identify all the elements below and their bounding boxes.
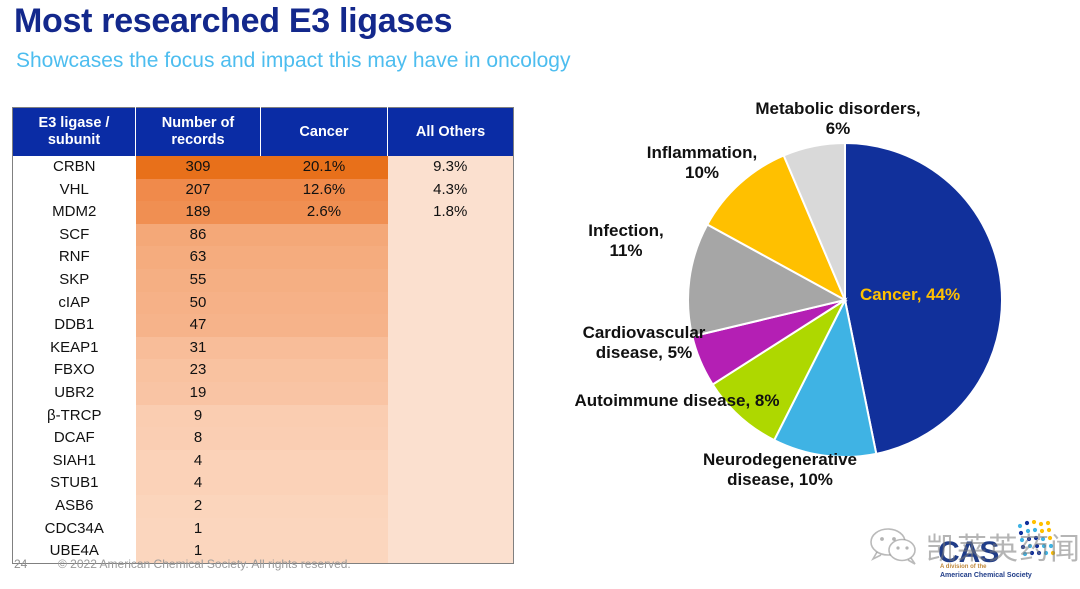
cell-record-count: 4 — [136, 450, 261, 473]
pie-label-metabolic-disorders: Metabolic disorders, 6% — [738, 99, 938, 139]
cell-all-others-percent — [388, 314, 514, 337]
table-row[interactable]: cIAP50 — [13, 292, 514, 315]
cell-all-others-percent — [388, 337, 514, 360]
cell-all-others-percent — [388, 405, 514, 428]
table-row[interactable]: ASB62 — [13, 495, 514, 518]
cell-record-count: 207 — [136, 179, 261, 202]
cell-all-others-percent — [388, 518, 514, 541]
cell-ligase-name: CDC34A — [13, 518, 136, 541]
page-subtitle: Showcases the focus and impact this may … — [16, 49, 570, 73]
table-header-row: E3 ligase / subunit Number of records Ca… — [13, 108, 514, 157]
cell-cancer-percent — [261, 359, 388, 382]
cell-ligase-name: STUB1 — [13, 472, 136, 495]
cell-ligase-name: β-TRCP — [13, 405, 136, 428]
cell-record-count: 86 — [136, 224, 261, 247]
table-row[interactable]: UBR219 — [13, 382, 514, 405]
cell-record-count: 4 — [136, 472, 261, 495]
cell-all-others-percent — [388, 495, 514, 518]
cell-ligase-name: DDB1 — [13, 314, 136, 337]
cell-all-others-percent: 9.3% — [388, 156, 514, 179]
cell-cancer-percent: 20.1% — [261, 156, 388, 179]
cell-cancer-percent — [261, 337, 388, 360]
cell-cancer-percent — [261, 269, 388, 292]
cell-ligase-name: SCF — [13, 224, 136, 247]
table-row[interactable]: MDM21892.6%1.8% — [13, 201, 514, 224]
cell-all-others-percent — [388, 292, 514, 315]
cell-record-count: 189 — [136, 201, 261, 224]
cell-record-count: 63 — [136, 246, 261, 269]
cell-cancer-percent — [261, 292, 388, 315]
wechat-chat-bubble-icon — [868, 526, 920, 566]
table-row[interactable]: CDC34A1 — [13, 518, 514, 541]
cell-cancer-percent — [261, 246, 388, 269]
cell-all-others-percent — [388, 269, 514, 292]
cell-cancer-percent: 2.6% — [261, 201, 388, 224]
cell-cancer-percent — [261, 472, 388, 495]
column-header-number-of-records[interactable]: Number of records — [136, 108, 261, 157]
cell-record-count: 19 — [136, 382, 261, 405]
cell-ligase-name: DCAF — [13, 427, 136, 450]
cell-record-count: 31 — [136, 337, 261, 360]
column-header-e3-ligase[interactable]: E3 ligase / subunit — [13, 108, 136, 157]
pie-label-infection: Infection, 11% — [566, 221, 686, 261]
cell-record-count: 9 — [136, 405, 261, 428]
cell-ligase-name: KEAP1 — [13, 337, 136, 360]
cell-ligase-name: FBXO — [13, 359, 136, 382]
cell-record-count: 23 — [136, 359, 261, 382]
table-row[interactable]: β-TRCP9 — [13, 405, 514, 428]
cell-record-count: 47 — [136, 314, 261, 337]
cell-all-others-percent — [388, 382, 514, 405]
cell-ligase-name: cIAP — [13, 292, 136, 315]
cell-cancer-percent — [261, 314, 388, 337]
cell-ligase-name: RNF — [13, 246, 136, 269]
cell-ligase-name: UBR2 — [13, 382, 136, 405]
cell-ligase-name: SKP — [13, 269, 136, 292]
cas-tagline-line2: American Chemical Society — [940, 572, 1032, 579]
pie-label-inflammation: Inflammation, 10% — [632, 143, 772, 183]
table-row[interactable]: KEAP131 — [13, 337, 514, 360]
cell-all-others-percent — [388, 540, 514, 563]
table-row[interactable]: SCF86 — [13, 224, 514, 247]
table-row[interactable]: CRBN30920.1%9.3% — [13, 156, 514, 179]
pie-label-neurodegenerative-disease: Neurodegenerative disease, 10% — [660, 450, 900, 490]
cell-cancer-percent — [261, 518, 388, 541]
cell-all-others-percent — [388, 427, 514, 450]
cell-record-count: 2 — [136, 495, 261, 518]
page-title: Most researched E3 ligases — [14, 2, 452, 41]
cell-all-others-percent: 1.8% — [388, 201, 514, 224]
table-row[interactable]: RNF63 — [13, 246, 514, 269]
cell-all-others-percent — [388, 246, 514, 269]
cell-all-others-percent — [388, 450, 514, 473]
pie-label-cardiovascular-disease: Cardiovascular disease, 5% — [554, 323, 734, 363]
table-row[interactable]: VHL20712.6%4.3% — [13, 179, 514, 202]
cell-record-count: 50 — [136, 292, 261, 315]
cell-cancer-percent — [261, 427, 388, 450]
table-row[interactable]: SIAH14 — [13, 450, 514, 473]
cell-all-others-percent: 4.3% — [388, 179, 514, 202]
cell-cancer-percent — [261, 450, 388, 473]
pie-label-cancer: Cancer, 44% — [860, 285, 1040, 305]
cell-record-count: 8 — [136, 427, 261, 450]
cell-record-count: 55 — [136, 269, 261, 292]
cell-ligase-name: ASB6 — [13, 495, 136, 518]
pie-label-autoimmune-disease: Autoimmune disease, 8% — [552, 391, 802, 411]
column-header-all-others[interactable]: All Others — [388, 108, 514, 157]
cell-ligase-name: VHL — [13, 179, 136, 202]
cell-cancer-percent — [261, 382, 388, 405]
table-row[interactable]: STUB14 — [13, 472, 514, 495]
cell-cancer-percent — [261, 224, 388, 247]
wechat-watermark: 凯莱英药闻 — [868, 518, 1078, 572]
e3-ligase-records-table: E3 ligase / subunit Number of records Ca… — [12, 107, 514, 564]
wechat-account-name: 凯莱英药闻 — [926, 524, 1080, 568]
cell-cancer-percent: 12.6% — [261, 179, 388, 202]
cell-ligase-name: CRBN — [13, 156, 136, 179]
table-row[interactable]: DDB147 — [13, 314, 514, 337]
cell-ligase-name: MDM2 — [13, 201, 136, 224]
cell-cancer-percent — [261, 495, 388, 518]
page-number: 24 — [14, 557, 27, 571]
column-header-cancer[interactable]: Cancer — [261, 108, 388, 157]
cell-ligase-name: SIAH1 — [13, 450, 136, 473]
table-row[interactable]: DCAF8 — [13, 427, 514, 450]
cell-record-count: 1 — [136, 518, 261, 541]
table-row[interactable]: FBXO23 — [13, 359, 514, 382]
cell-cancer-percent — [261, 405, 388, 428]
copyright-notice: © 2022 American Chemical Society. All ri… — [58, 557, 351, 571]
cell-all-others-percent — [388, 472, 514, 495]
table-row[interactable]: SKP55 — [13, 269, 514, 292]
cell-all-others-percent — [388, 359, 514, 382]
cell-record-count: 309 — [136, 156, 261, 179]
cell-all-others-percent — [388, 224, 514, 247]
disease-distribution-pie-chart: Metabolic disorders, 6% Inflammation, 10… — [560, 95, 1080, 535]
